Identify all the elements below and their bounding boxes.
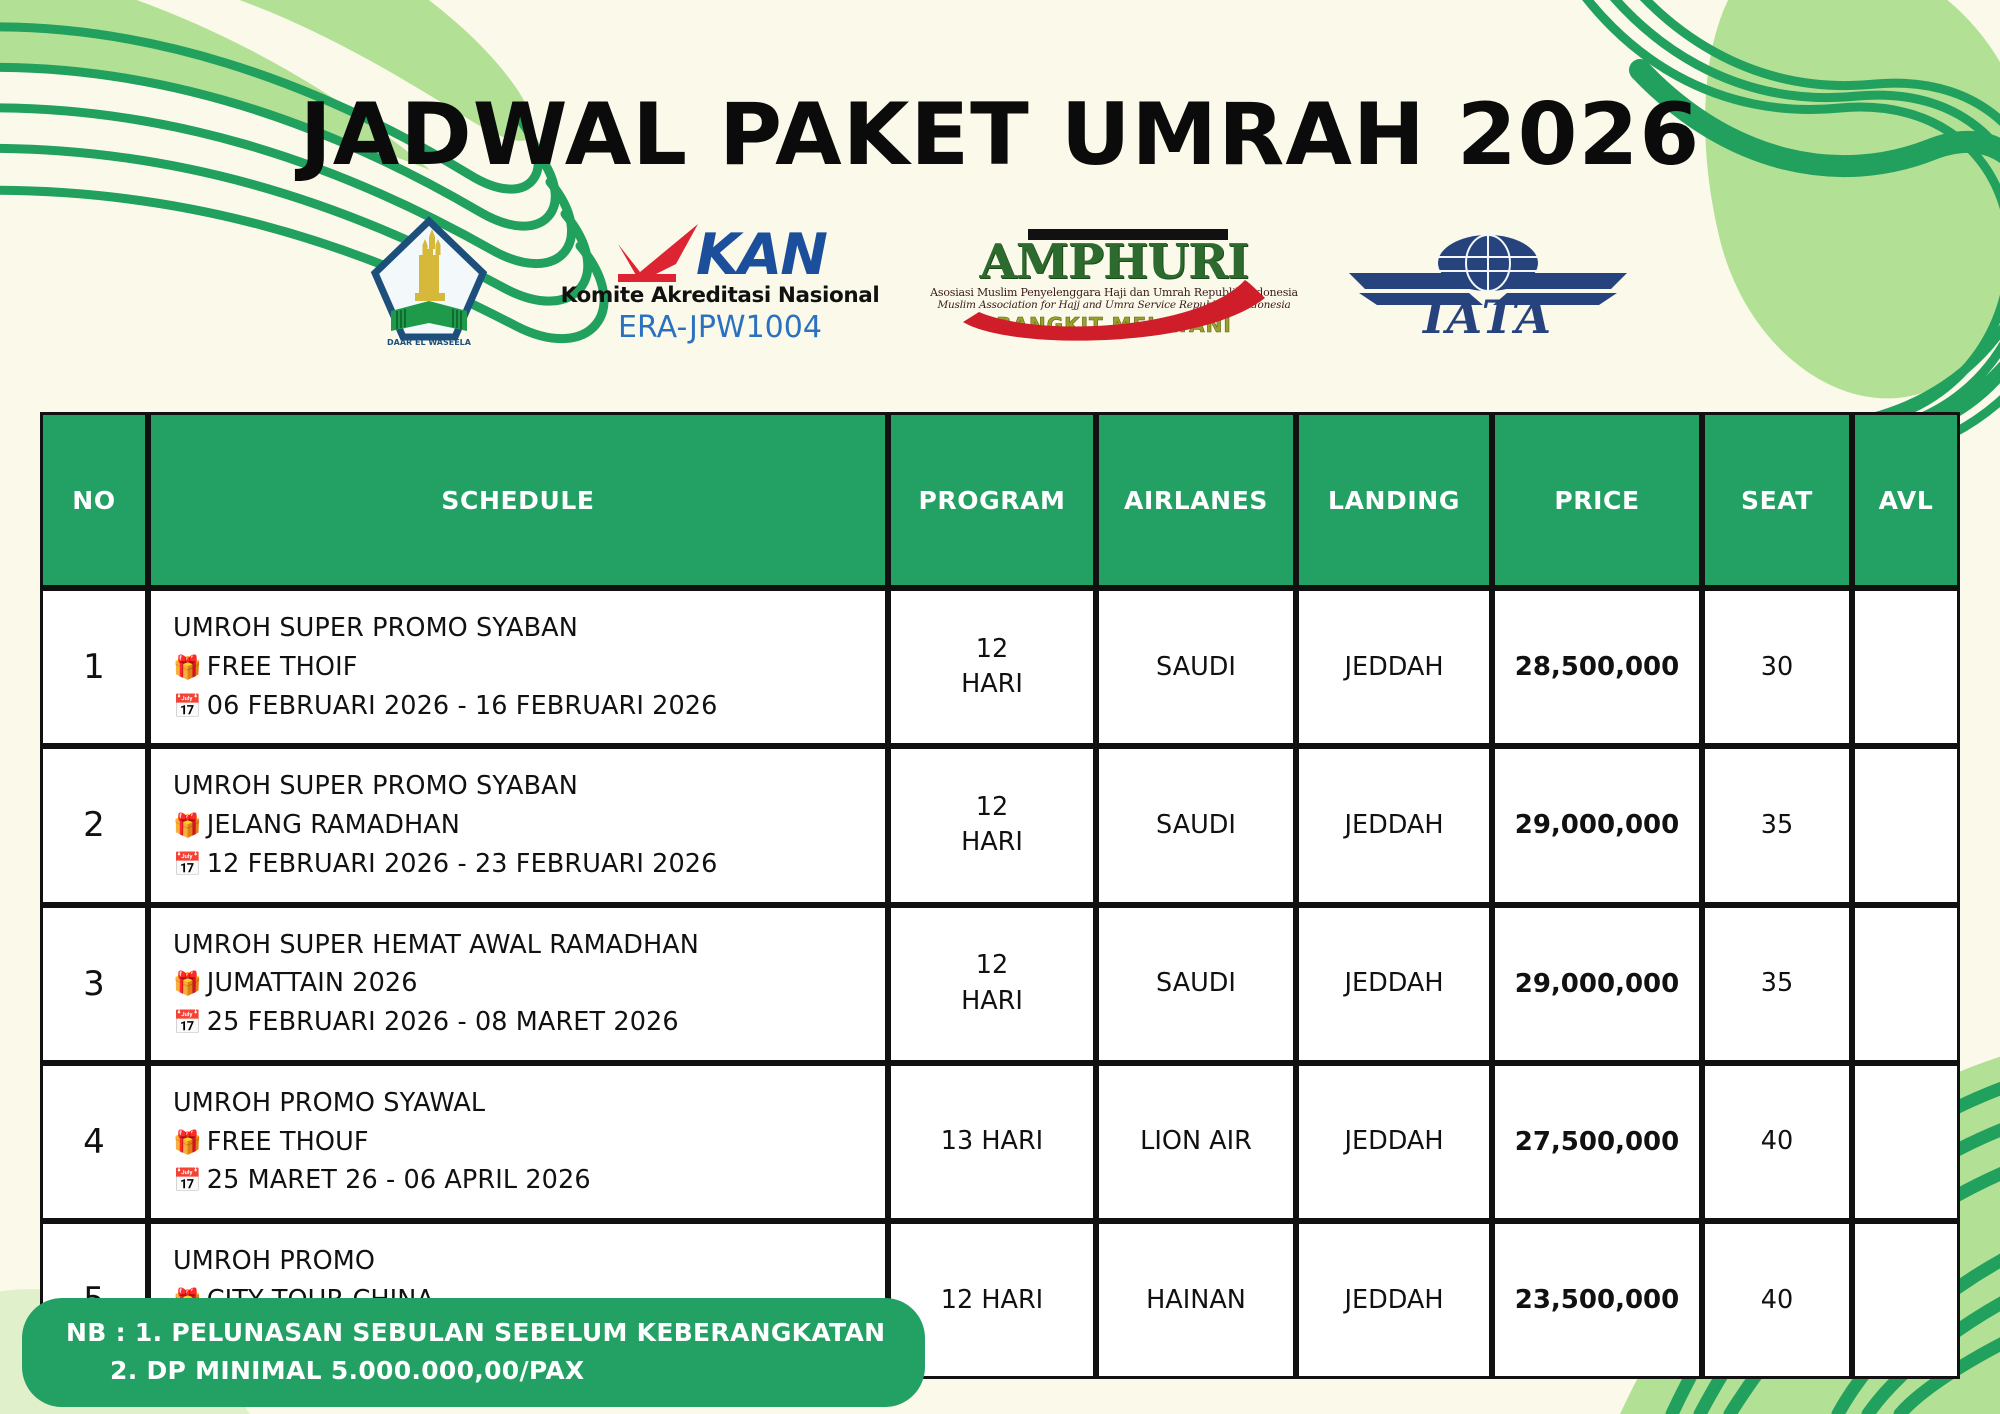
cell-price: 27,500,000: [1492, 1063, 1702, 1221]
header-program: PROGRAM: [888, 412, 1096, 588]
program-line1: 12: [976, 792, 1008, 822]
cell-schedule: UMROH PROMO SYAWAL 🎁FREE THOUF 📅25 MARET…: [148, 1063, 888, 1221]
schedule-table-container: NO SCHEDULE PROGRAM AIRLANES LANDING PRI…: [40, 412, 1960, 1379]
table-row: 1 UMROH SUPER PROMO SYABAN 🎁FREE THOIF 📅…: [40, 588, 1960, 746]
cell-seat: 35: [1702, 746, 1852, 904]
cell-seat: 40: [1702, 1063, 1852, 1221]
program-line2: HARI: [961, 986, 1023, 1016]
schedule-bonus: FREE THOUF: [207, 1127, 369, 1157]
gift-icon: 🎁: [173, 655, 202, 681]
header-schedule: SCHEDULE: [148, 412, 888, 588]
schedule-bonus: JELANG RAMADHAN: [207, 810, 460, 840]
page-title: JADWAL PAKET UMRAH 2026: [0, 92, 2000, 178]
table-row: 2 UMROH SUPER PROMO SYABAN 🎁JELANG RAMAD…: [40, 746, 1960, 904]
cell-landing: JEDDAH: [1296, 588, 1492, 746]
cell-avl: [1852, 746, 1960, 904]
kan-logo: KAN Komite Akreditasi Nasional ERA-JPW10…: [555, 221, 885, 345]
cell-avl: [1852, 905, 1960, 1063]
schedule-bonus: JUMATTAIN 2026: [207, 968, 418, 998]
table-body: 1 UMROH SUPER PROMO SYABAN 🎁FREE THOIF 📅…: [40, 588, 1960, 1379]
cell-program: 13 HARI: [888, 1063, 1096, 1221]
kan-logo-word: KAN: [696, 229, 826, 281]
page-title-container: JADWAL PAKET UMRAH 2026: [0, 92, 2000, 178]
cell-seat: 30: [1702, 588, 1852, 746]
program-line2: HARI: [961, 669, 1023, 699]
schedule-title: UMROH PROMO: [173, 1242, 885, 1281]
cell-schedule: UMROH SUPER PROMO SYABAN 🎁JELANG RAMADHA…: [148, 746, 888, 904]
cell-no: 4: [40, 1063, 148, 1221]
calendar-icon: 📅: [173, 1168, 202, 1194]
cell-program: 12 HARI: [888, 746, 1096, 904]
note-line-1: NB : 1. PELUNASAN SEBULAN SEBELUM KEBERA…: [66, 1314, 885, 1352]
cell-schedule: UMROH SUPER HEMAT AWAL RAMADHAN 🎁JUMATTA…: [148, 905, 888, 1063]
schedule-bonus-line: 🎁JELANG RAMADHAN: [173, 806, 885, 845]
cell-landing: JEDDAH: [1296, 905, 1492, 1063]
cell-seat: 40: [1702, 1221, 1852, 1379]
cell-program: 12 HARI: [888, 588, 1096, 746]
cell-landing: JEDDAH: [1296, 1221, 1492, 1379]
kan-logo-subtitle: Komite Akreditasi Nasional: [561, 283, 880, 308]
schedule-dates-line: 📅25 MARET 26 - 06 APRIL 2026: [173, 1161, 885, 1200]
schedule-dates: 12 FEBRUARI 2026 - 23 FEBRUARI 2026: [207, 849, 718, 879]
schedule-bonus-line: 🎁FREE THOUF: [173, 1123, 885, 1162]
amphuri-logo: AMPHURI Asosiasi Muslim Penyelenggara Ha…: [949, 224, 1279, 342]
header-no: NO: [40, 412, 148, 588]
notes-box: NB : 1. PELUNASAN SEBULAN SEBELUM KEBERA…: [22, 1298, 925, 1407]
cell-program: 12 HARI: [888, 905, 1096, 1063]
header-seat: SEAT: [1702, 412, 1852, 588]
header-airlanes: AIRLANES: [1096, 412, 1296, 588]
header-price: PRICE: [1492, 412, 1702, 588]
cell-avl: [1852, 1063, 1960, 1221]
schedule-dates-line: 📅12 FEBRUARI 2026 - 23 FEBRUARI 2026: [173, 845, 885, 884]
note-line-2: 2. DP MINIMAL 5.000.000,00/PAX: [66, 1352, 885, 1390]
cell-no: 2: [40, 746, 148, 904]
cell-no: 1: [40, 588, 148, 746]
svg-text:DAAR EL WASEELA: DAAR EL WASEELA: [387, 338, 472, 347]
gift-icon: 🎁: [173, 971, 202, 997]
gift-icon: 🎁: [173, 813, 202, 839]
schedule-title: UMROH SUPER PROMO SYABAN: [173, 609, 885, 648]
amphuri-swoosh: [949, 276, 1279, 342]
cell-price: 28,500,000: [1492, 588, 1702, 746]
cell-landing: JEDDAH: [1296, 1063, 1492, 1221]
schedule-table: NO SCHEDULE PROGRAM AIRLANES LANDING PRI…: [40, 412, 1960, 1379]
program-line1: 12: [976, 950, 1008, 980]
program-line1: 12: [976, 634, 1008, 664]
schedule-title: UMROH PROMO SYAWAL: [173, 1084, 885, 1123]
cell-landing: JEDDAH: [1296, 746, 1492, 904]
cell-airlane: SAUDI: [1096, 588, 1296, 746]
cell-airlane: HAINAN: [1096, 1221, 1296, 1379]
schedule-title: UMROH SUPER PROMO SYABAN: [173, 767, 885, 806]
logo-row: DAAR EL WASEELA KAN Komite Akreditasi Na…: [0, 228, 2000, 338]
schedule-dates: 25 MARET 26 - 06 APRIL 2026: [207, 1165, 591, 1195]
cell-price: 29,000,000: [1492, 746, 1702, 904]
svg-text:IATA: IATA: [1421, 290, 1553, 339]
schedule-dates-line: 📅06 FEBRUARI 2026 - 16 FEBRUARI 2026: [173, 687, 885, 726]
daar-el-waseela-logo: DAAR EL WASEELA: [367, 215, 491, 351]
cell-avl: [1852, 588, 1960, 746]
schedule-bonus-line: 🎁FREE THOIF: [173, 648, 885, 687]
cell-airlane: SAUDI: [1096, 746, 1296, 904]
program-line2: HARI: [961, 827, 1023, 857]
cell-airlane: LION AIR: [1096, 1063, 1296, 1221]
cell-no: 3: [40, 905, 148, 1063]
calendar-icon: 📅: [173, 852, 202, 878]
schedule-title: UMROH SUPER HEMAT AWAL RAMADHAN: [173, 926, 885, 965]
cell-price: 29,000,000: [1492, 905, 1702, 1063]
schedule-dates: 25 FEBRUARI 2026 - 08 MARET 2026: [207, 1007, 679, 1037]
table-row: 4 UMROH PROMO SYAWAL 🎁FREE THOUF 📅25 MAR…: [40, 1063, 1960, 1221]
cell-schedule: UMROH SUPER PROMO SYABAN 🎁FREE THOIF 📅06…: [148, 588, 888, 746]
table-header-row: NO SCHEDULE PROGRAM AIRLANES LANDING PRI…: [40, 412, 1960, 588]
calendar-icon: 📅: [173, 694, 202, 720]
schedule-bonus-line: 🎁JUMATTAIN 2026: [173, 964, 885, 1003]
kan-accreditation-code: ERA-JPW1004: [618, 310, 822, 345]
schedule-dates-line: 📅25 FEBRUARI 2026 - 08 MARET 2026: [173, 1003, 885, 1042]
iata-logo: IATA: [1343, 227, 1633, 339]
cell-seat: 35: [1702, 905, 1852, 1063]
cell-avl: [1852, 1221, 1960, 1379]
calendar-icon: 📅: [173, 1010, 202, 1036]
table-row: 3 UMROH SUPER HEMAT AWAL RAMADHAN 🎁JUMAT…: [40, 905, 1960, 1063]
header-landing: LANDING: [1296, 412, 1492, 588]
schedule-dates: 06 FEBRUARI 2026 - 16 FEBRUARI 2026: [207, 691, 718, 721]
gift-icon: 🎁: [173, 1130, 202, 1156]
header-avl: AVL: [1852, 412, 1960, 588]
cell-price: 23,500,000: [1492, 1221, 1702, 1379]
schedule-bonus: FREE THOIF: [207, 652, 358, 682]
cell-airlane: SAUDI: [1096, 905, 1296, 1063]
